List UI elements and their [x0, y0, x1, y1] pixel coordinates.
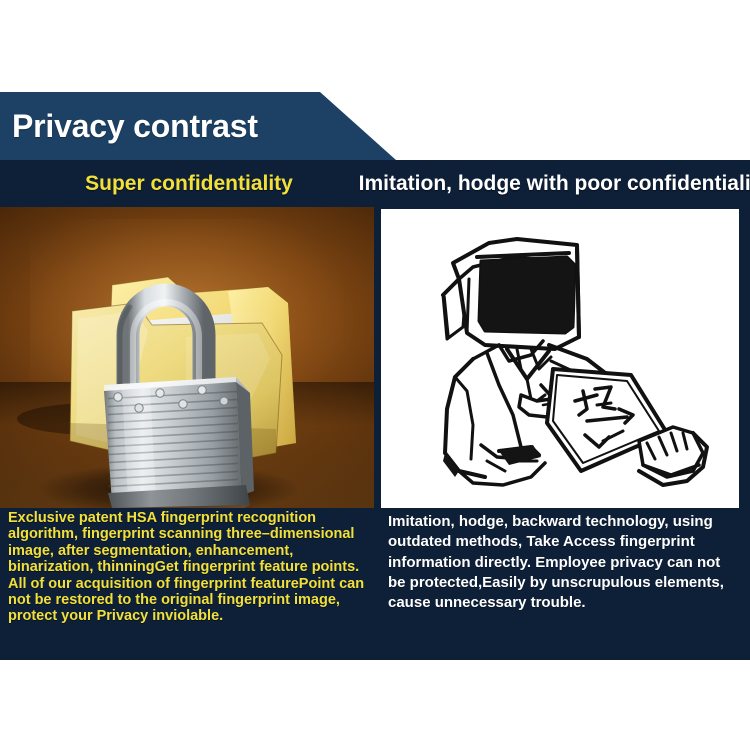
heading-imitation-hodge: Imitation, hodge with poor confidentiali…	[378, 160, 750, 207]
page-title: Privacy contrast	[0, 108, 258, 145]
heading-super-confidentiality: Super confidentiality	[0, 160, 378, 207]
monitor-head-sketch-illustration	[381, 209, 739, 508]
column-headings: Super confidentiality Imitation, hodge w…	[0, 160, 750, 207]
caption-imitation-hodge: Imitation, hodge, backward technology, u…	[388, 512, 740, 613]
privacy-contrast-poster: Privacy contrast Super confidentiality I…	[0, 0, 750, 750]
title-banner: Privacy contrast	[0, 92, 400, 160]
monitor-head-sketch	[381, 209, 739, 508]
caption-super-confidentiality: Exclusive patent HSA fingerprint recogni…	[8, 510, 374, 625]
padlock-folders-illustration	[0, 207, 374, 508]
padlock-folders-photo	[0, 207, 374, 508]
